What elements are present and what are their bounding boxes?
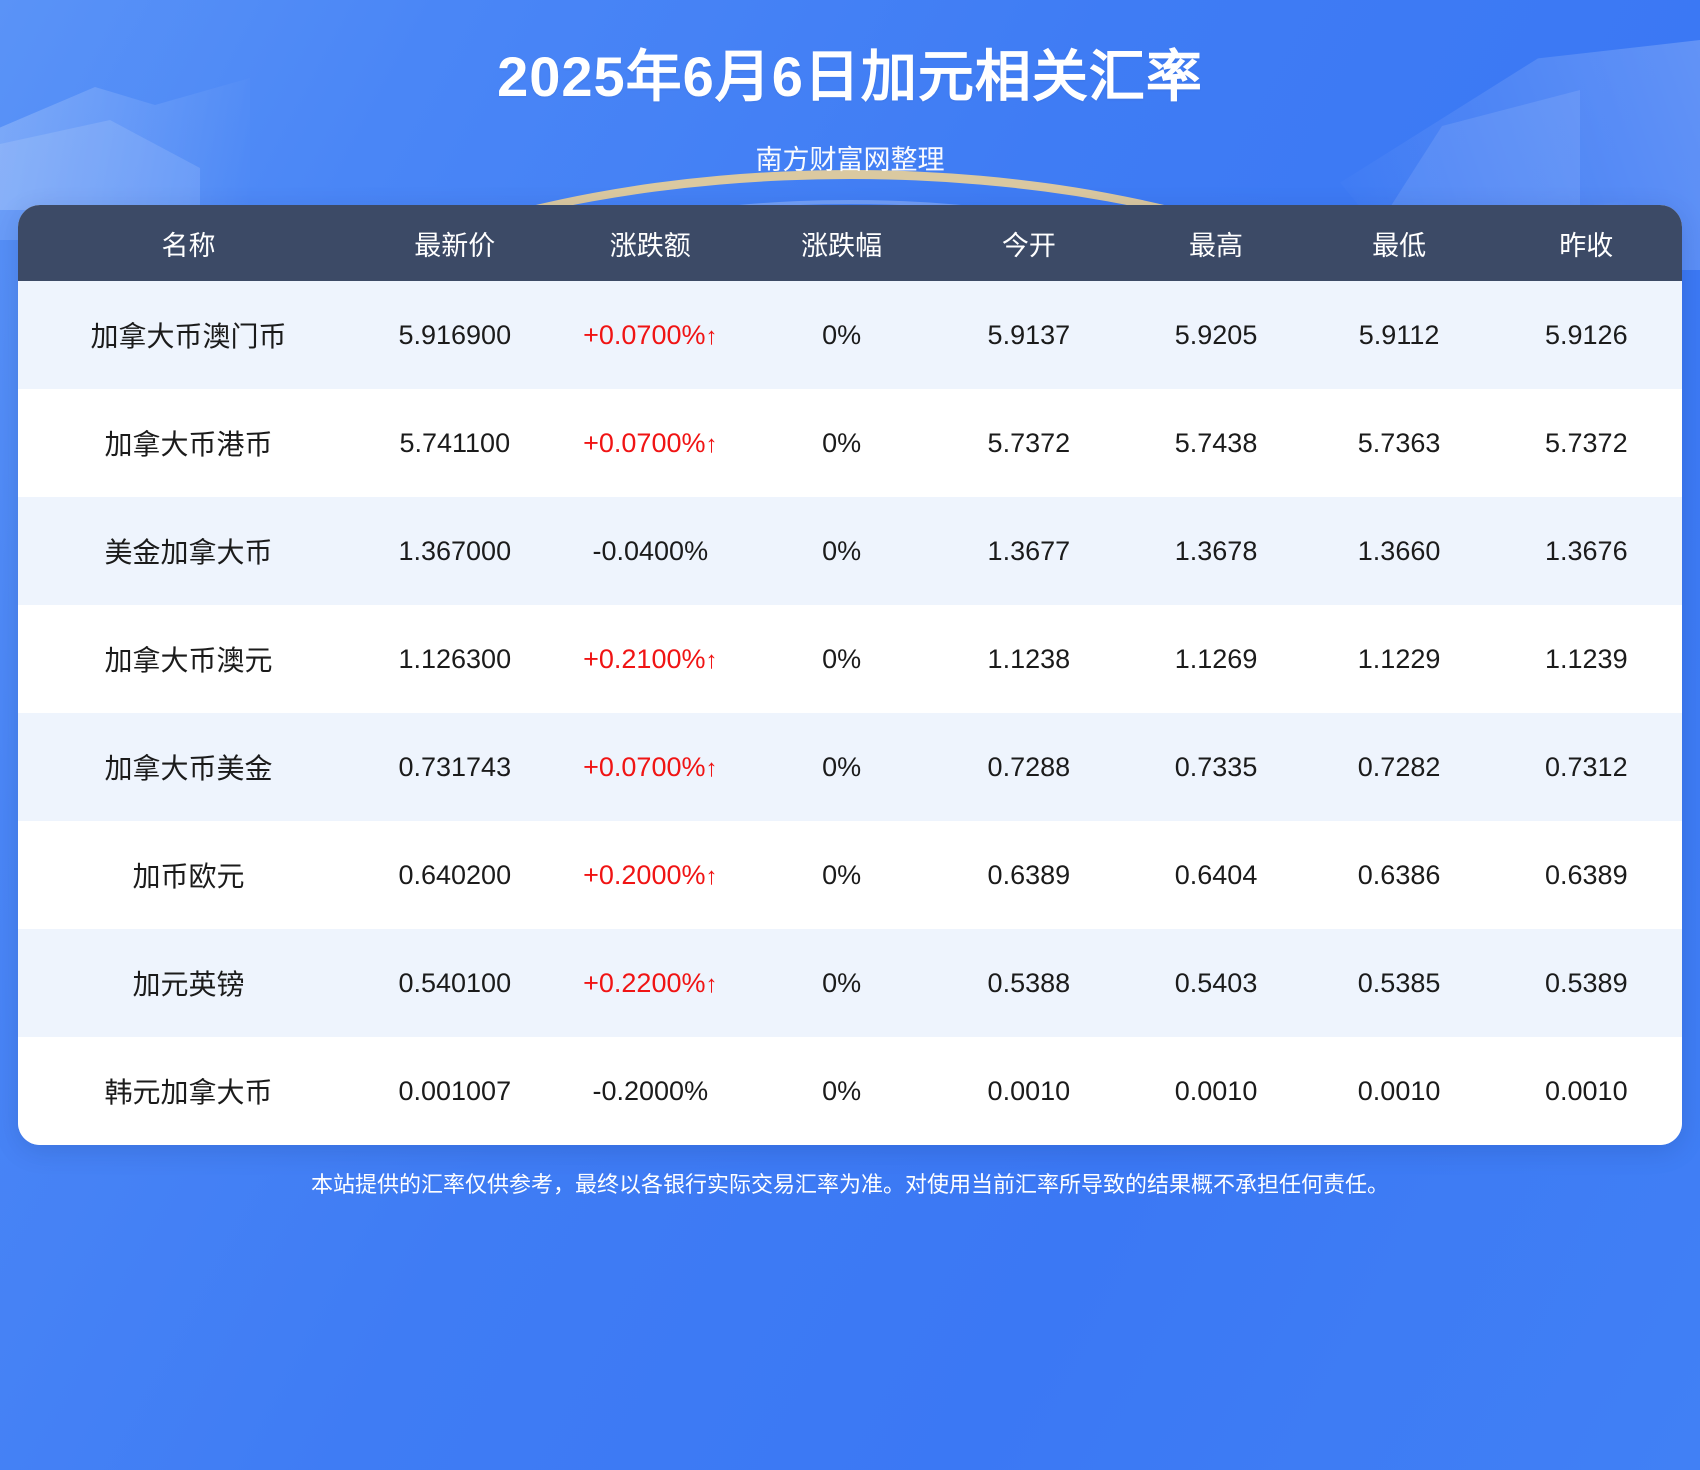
arrow-up-icon: ↑ [705,323,717,350]
table-row[interactable]: 加拿大币澳元1.126300+0.2100%↑0%1.12381.12691.1… [18,605,1682,713]
change-percent: 0% [750,605,933,713]
low-price: 0.7282 [1308,713,1491,821]
page-header: 2025年6月6日加元相关汇率 南方财富网整理 [0,0,1700,177]
last-price: 0.540100 [359,929,550,1037]
change-amount-value: -0.0400% [593,536,709,566]
change-amount: -0.2000% [550,1037,750,1145]
high-price: 0.7335 [1125,713,1308,821]
change-percent: 0% [750,497,933,605]
change-amount-value: +0.0700% [583,428,705,458]
change-percent: 0% [750,281,933,389]
low-price: 5.9112 [1308,281,1491,389]
low-price: 5.7363 [1308,389,1491,497]
change-percent: 0% [750,1037,933,1145]
high-price: 5.7438 [1125,389,1308,497]
arrow-up-icon: ↑ [705,647,717,674]
prev-close-price: 5.9126 [1491,281,1682,389]
table-body: 加拿大币澳门币5.916900+0.0700%↑0%5.91375.92055.… [18,281,1682,1145]
prev-close-price: 1.1239 [1491,605,1682,713]
change-amount: -0.0400% [550,497,750,605]
currency-pair-name: 加拿大币澳门币 [18,281,359,389]
change-amount-value: +0.2100% [583,644,705,674]
prev-close-price: 0.0010 [1491,1037,1682,1145]
change-amount-value: +0.2000% [583,860,705,890]
prev-close-price: 0.6389 [1491,821,1682,929]
last-price: 5.741100 [359,389,550,497]
change-amount: +0.2100%↑ [550,605,750,713]
high-price: 0.5403 [1125,929,1308,1037]
change-amount-value: +0.0700% [583,752,705,782]
last-price: 1.126300 [359,605,550,713]
prev-close-price: 5.7372 [1491,389,1682,497]
arrow-up-icon: ↑ [705,755,717,782]
high-price: 0.6404 [1125,821,1308,929]
table-row[interactable]: 韩元加拿大币0.001007-0.2000%0%0.00100.00100.00… [18,1037,1682,1145]
column-header-change[interactable]: 涨跌额 [550,205,750,281]
last-price: 5.916900 [359,281,550,389]
change-amount: +0.0700%↑ [550,281,750,389]
column-header-prev-close[interactable]: 昨收 [1491,205,1682,281]
change-amount-value: +0.0700% [583,320,705,350]
change-amount-value: +0.2200% [583,968,705,998]
currency-pair-name: 加拿大币美金 [18,713,359,821]
low-price: 0.5385 [1308,929,1491,1037]
change-amount: +0.2200%↑ [550,929,750,1037]
disclaimer-note: 本站提供的汇率仅供参考，最终以各银行实际交易汇率为准。对使用当前汇率所导致的结果… [0,1167,1700,1199]
low-price: 0.0010 [1308,1037,1491,1145]
open-price: 5.7372 [933,389,1124,497]
prev-close-price: 1.3676 [1491,497,1682,605]
change-amount: +0.0700%↑ [550,389,750,497]
column-header-last-price[interactable]: 最新价 [359,205,550,281]
change-amount: +0.2000%↑ [550,821,750,929]
table-row[interactable]: 加币欧元0.640200+0.2000%↑0%0.63890.64040.638… [18,821,1682,929]
exchange-rate-table: 名称 最新价 涨跌额 涨跌幅 今开 最高 最低 昨收 加拿大币澳门币5.9169… [18,205,1682,1145]
prev-close-price: 0.5389 [1491,929,1682,1037]
table-header-row: 名称 最新价 涨跌额 涨跌幅 今开 最高 最低 昨收 [18,205,1682,281]
page-subtitle: 南方财富网整理 [0,138,1700,177]
change-amount: +0.0700%↑ [550,713,750,821]
table-row[interactable]: 加元英镑0.540100+0.2200%↑0%0.53880.54030.538… [18,929,1682,1037]
change-percent: 0% [750,821,933,929]
low-price: 1.1229 [1308,605,1491,713]
last-price: 0.640200 [359,821,550,929]
currency-pair-name: 韩元加拿大币 [18,1037,359,1145]
low-price: 1.3660 [1308,497,1491,605]
table-row[interactable]: 加拿大币港币5.741100+0.0700%↑0%5.73725.74385.7… [18,389,1682,497]
exchange-rate-card: 南方财富网 Southmoney.com 名称 最新价 涨跌额 涨跌幅 今开 最… [18,205,1682,1145]
currency-pair-name: 美金加拿大币 [18,497,359,605]
open-price: 0.7288 [933,713,1124,821]
open-price: 0.0010 [933,1037,1124,1145]
currency-pair-name: 加元英镑 [18,929,359,1037]
high-price: 1.3678 [1125,497,1308,605]
change-percent: 0% [750,929,933,1037]
change-percent: 0% [750,713,933,821]
open-price: 1.3677 [933,497,1124,605]
prev-close-price: 0.7312 [1491,713,1682,821]
column-header-change-pct[interactable]: 涨跌幅 [750,205,933,281]
column-header-name[interactable]: 名称 [18,205,359,281]
currency-pair-name: 加拿大币澳元 [18,605,359,713]
page-title: 2025年6月6日加元相关汇率 [0,42,1700,112]
high-price: 0.0010 [1125,1037,1308,1145]
open-price: 0.5388 [933,929,1124,1037]
column-header-high[interactable]: 最高 [1125,205,1308,281]
high-price: 1.1269 [1125,605,1308,713]
last-price: 1.367000 [359,497,550,605]
low-price: 0.6386 [1308,821,1491,929]
currency-pair-name: 加拿大币港币 [18,389,359,497]
table-row[interactable]: 美金加拿大币1.367000-0.0400%0%1.36771.36781.36… [18,497,1682,605]
last-price: 0.731743 [359,713,550,821]
table-row[interactable]: 加拿大币美金0.731743+0.0700%↑0%0.72880.73350.7… [18,713,1682,821]
column-header-low[interactable]: 最低 [1308,205,1491,281]
currency-pair-name: 加币欧元 [18,821,359,929]
open-price: 0.6389 [933,821,1124,929]
high-price: 5.9205 [1125,281,1308,389]
table-row[interactable]: 加拿大币澳门币5.916900+0.0700%↑0%5.91375.92055.… [18,281,1682,389]
arrow-up-icon: ↑ [705,971,717,998]
table-header: 名称 最新价 涨跌额 涨跌幅 今开 最高 最低 昨收 [18,205,1682,281]
column-header-open[interactable]: 今开 [933,205,1124,281]
open-price: 1.1238 [933,605,1124,713]
open-price: 5.9137 [933,281,1124,389]
last-price: 0.001007 [359,1037,550,1145]
arrow-up-icon: ↑ [705,863,717,890]
change-percent: 0% [750,389,933,497]
change-amount-value: -0.2000% [593,1076,709,1106]
arrow-up-icon: ↑ [705,431,717,458]
